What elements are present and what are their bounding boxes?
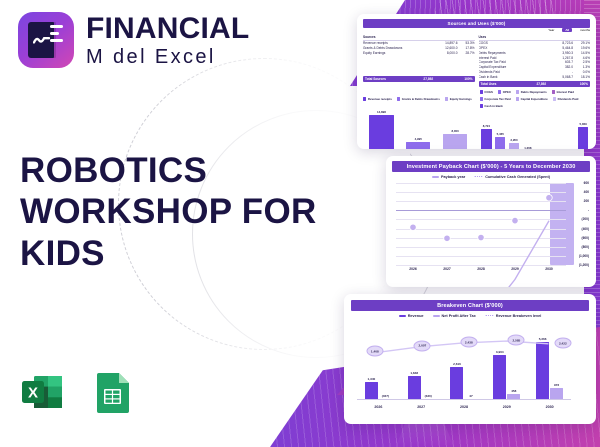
total-value: 27,892	[524, 82, 546, 86]
x-tick: 2029	[498, 265, 532, 275]
bar-value: 47	[469, 394, 472, 398]
bar-value: 8,724	[483, 124, 490, 128]
svg-text:X: X	[28, 385, 38, 402]
breakeven-level-label: 1,408	[366, 346, 383, 357]
breakeven-chart-title: Breakeven Chart ($'000)	[351, 300, 589, 311]
total-pct: 100%	[574, 82, 588, 86]
y-tick: (400)	[582, 227, 589, 231]
y-tick: (1,200)	[579, 263, 589, 267]
y-tick: (1,000)	[579, 254, 589, 258]
bar-value: 458	[511, 389, 516, 393]
bar-item: 3,950	[509, 138, 519, 149]
row-label: Dividends Paid	[479, 70, 549, 74]
brand-subtitle: M del Excel	[86, 47, 249, 67]
breakeven-plot-area: 1,340 (467) 1,848 (330)	[351, 322, 589, 414]
row-label: Debts Repayments	[479, 51, 549, 55]
x-tick: 2029	[485, 401, 528, 414]
legend-item: Debts Repayments	[516, 90, 547, 94]
total-pct: 100%	[459, 77, 473, 81]
row-value: 382.0	[551, 65, 573, 69]
bar-value: 604	[539, 148, 544, 149]
breakeven-level-line	[357, 326, 571, 386]
legend-item: COGS	[480, 90, 493, 94]
legend-label: OPEX	[503, 90, 511, 94]
row-pct: 29.1%	[576, 41, 590, 45]
row-pct: 17.8%	[461, 46, 475, 50]
bar-item: 14,898	[369, 110, 393, 149]
legend-item: OPEX	[498, 90, 511, 94]
breakeven-level-label: 2,585	[508, 335, 525, 346]
x-tick: 2028	[464, 265, 498, 275]
row-value: -	[551, 70, 573, 74]
legend-item: Revenue	[399, 314, 424, 318]
row-label: Revenue receipts	[363, 41, 433, 45]
legend-label: Interest Paid	[557, 90, 574, 94]
legend-label: Capital Expenditure	[521, 97, 548, 101]
panel-breakeven-chart[interactable]: Breakeven Chart ($'000) Revenue Net Prof…	[344, 294, 596, 424]
row-value: 1,267.8	[551, 56, 573, 60]
bar-value: 8,000	[451, 129, 458, 133]
panel-sources-and-uses[interactable]: Sources and Uses ($'000) Year All months…	[357, 14, 596, 149]
payback-y-axis: 600 400 200 - (200) (400) (600) (800) (1…	[566, 183, 590, 265]
x-tick: 2028	[443, 401, 486, 414]
document-lines-icon	[50, 25, 63, 42]
total-label: Total Uses	[481, 82, 497, 86]
x-tick: 2026	[357, 401, 400, 414]
legend-label: Cash in Bank	[484, 104, 502, 108]
table-row: Revenue receipts 14,897.6 53.3%	[363, 41, 475, 46]
bar-item: 8,000	[443, 129, 467, 149]
legend-label: Debts Repayments	[521, 90, 547, 94]
legend-item: Capital Expenditure	[516, 97, 548, 101]
breakeven-baseline	[357, 399, 571, 400]
payback-data-points	[396, 183, 566, 249]
brand-logo: FINANCIAL M del Excel	[18, 12, 249, 68]
bar-value: 4,995	[415, 137, 422, 141]
payback-plot-area: 600 400 200 - (200) (400) (600) (800) (1…	[392, 183, 590, 275]
total-value: 27,892	[411, 77, 433, 81]
row-pct: 28.7%	[461, 51, 475, 55]
legend-label: Revenue	[408, 314, 424, 318]
legend-label: Cumulative Cash Generated (Spent)	[485, 175, 550, 179]
row-label: OPEX	[479, 46, 549, 50]
legend-item: Grants & Debts Drawdowns	[397, 90, 440, 108]
period-value[interactable]: All	[562, 28, 572, 32]
row-pct: 18.1%	[576, 75, 590, 79]
bar-item: 5,465	[495, 132, 505, 149]
bar-value: 5,465	[497, 132, 504, 136]
table-row: Equity Earnings 8,000.0 28.7%	[363, 50, 475, 55]
legend-label: Equity Earnings	[450, 97, 472, 101]
row-pct: 0.0%	[576, 70, 590, 74]
sources-chart-legend: Revenue receipts Grants & Debts Drawdown…	[363, 90, 474, 108]
row-pct: 4.6%	[576, 56, 590, 60]
row-value: 5,464.8	[551, 46, 573, 50]
row-label: COGS	[479, 41, 549, 45]
payback-x-axis: 2026 2027 2028 2029 2030	[396, 265, 566, 275]
uses-bar-chart: 8,724 5,465 3,950 1,268 604 382	[480, 110, 591, 149]
uses-column: Uses COGS 8,723.6 29.1% OPEX 5,464.8 19.…	[479, 35, 591, 87]
sources-column: Sources Revenue receipts 14,897.6 53.3% …	[363, 35, 475, 87]
legend-label: Dividends Paid	[558, 97, 579, 101]
app-icons-row: X	[18, 368, 136, 416]
legend-item: Cumulative Cash Generated (Spent)	[474, 175, 550, 179]
y-tick: 200	[584, 199, 589, 203]
row-label: Corporate Tax Paid	[479, 60, 549, 64]
bar-value: 5,069	[579, 122, 586, 126]
row-value: 603.7	[551, 60, 573, 64]
row-label: Capital Expenditure	[479, 65, 549, 69]
bar-item: 1,268	[523, 146, 533, 149]
bar-value: 1,268	[524, 146, 531, 149]
legend-item: Net Profit After Tax	[433, 314, 476, 318]
legend-item: Revenue receipts	[363, 90, 392, 108]
row-pct: 1.3%	[576, 65, 590, 69]
sources-uses-table: Sources Revenue receipts 14,897.6 53.3% …	[363, 35, 590, 87]
x-tick: 2030	[528, 401, 571, 414]
breakeven-x-axis: 2026 2027 2028 2029 2030	[357, 401, 571, 414]
row-pct: 2.5%	[576, 60, 590, 64]
y-tick: (600)	[582, 236, 589, 240]
legend-label: COGS	[484, 90, 493, 94]
bar-item: 5,069	[578, 122, 588, 149]
breakeven-chart-legend: Revenue Net Profit After Tax Revenue Bre…	[351, 314, 589, 318]
legend-item: Corporate Tax Paid	[480, 97, 511, 101]
x-tick: 2027	[430, 265, 464, 275]
legend-item: Payback year	[432, 175, 465, 179]
x-tick: 2030	[532, 265, 566, 275]
uses-total-row: Total Uses 27,892 100%	[479, 81, 591, 87]
payback-chart-title: Investment Payback Chart ($'000) - 5 Yea…	[392, 161, 590, 172]
table-row: Grants & Debts Drawdowns 12,600.0 17.8%	[363, 45, 475, 50]
google-sheets-icon[interactable]	[88, 368, 136, 416]
y-tick: 600	[584, 181, 589, 185]
row-value: 8,000.0	[436, 51, 458, 55]
legend-item: Equity Earnings	[445, 90, 472, 108]
microsoft-excel-icon[interactable]: X	[18, 368, 66, 416]
bar-value: 14,898	[377, 110, 386, 114]
row-value: 3,950.3	[551, 51, 573, 55]
breakeven-level-label: 2,007	[414, 340, 431, 351]
y-tick: (200)	[582, 217, 589, 221]
bar-value: (330)	[425, 394, 432, 398]
y-tick: -	[588, 208, 589, 212]
brand-title: FINANCIAL	[86, 14, 249, 44]
sources-bar-chart: 14,898 4,995 8,000	[363, 110, 474, 149]
total-label: Total Sources	[365, 77, 386, 81]
y-tick: 400	[584, 190, 589, 194]
bar-item: 604	[536, 148, 546, 149]
x-tick: 2026	[396, 265, 430, 275]
legend-item: Dividends Paid	[553, 97, 579, 101]
legend-item: Cash in Bank	[480, 104, 503, 108]
uses-chart-legend: COGS OPEX Debts Repayments Interest Paid…	[480, 90, 591, 108]
page-title: ROBOTICS WORKSHOP FOR KIDS	[20, 150, 350, 274]
bar-value: 3,950	[510, 138, 517, 142]
payback-chart-legend: Payback year Cumulative Cash Generated (…	[392, 175, 590, 179]
financial-model-excel-logo-icon	[18, 12, 74, 68]
row-value: 14,897.6	[436, 41, 458, 45]
row-value: 12,600.0	[436, 46, 458, 50]
table-row: Cash in Bank 5,068.7 18.1%	[479, 75, 591, 80]
legend-item: Revenue Breakeven level	[485, 314, 542, 318]
period-unit: months	[580, 28, 590, 32]
x-tick: 2027	[400, 401, 443, 414]
wave-line-icon	[33, 36, 50, 45]
y-tick: (800)	[582, 245, 589, 249]
bar-item: 8,724	[481, 124, 491, 149]
period-label: Year	[548, 28, 554, 32]
row-label: Equity Earnings	[363, 51, 433, 55]
row-pct: 53.3%	[461, 41, 475, 45]
row-pct: 14.5%	[576, 51, 590, 55]
row-value: 5,068.7	[551, 75, 573, 79]
sources-uses-title: Sources and Uses ($'000)	[363, 19, 590, 28]
legend-label: Corporate Tax Paid	[484, 97, 510, 101]
legend-label: Payback year	[441, 175, 465, 179]
row-label: Cash in Bank	[479, 75, 549, 79]
legend-item: Interest Paid	[552, 90, 574, 94]
row-label: Interest Paid	[479, 56, 549, 60]
row-label: Grants & Debts Drawdowns	[363, 46, 433, 50]
row-pct: 19.6%	[576, 46, 590, 50]
sources-uses-period-toggle[interactable]: Year All months	[363, 28, 590, 32]
sources-total-row: Total Sources 27,892 100%	[363, 76, 475, 82]
legend-label: Revenue receipts	[368, 97, 392, 101]
panel-investment-payback[interactable]: Investment Payback Chart ($'000) - 5 Yea…	[386, 156, 596, 287]
bar-value: (467)	[382, 394, 389, 398]
breakeven-level-label: 2,438	[460, 337, 477, 348]
legend-label: Revenue Breakeven level	[496, 314, 542, 318]
row-value: 8,723.6	[551, 41, 573, 45]
legend-label: Grants & Debts Drawdowns	[402, 97, 440, 101]
legend-label: Net Profit After Tax	[442, 314, 476, 318]
bar-item: 4,995	[406, 137, 430, 149]
npat-bar: 458	[507, 389, 520, 400]
breakeven-level-label: 2,422	[554, 338, 571, 349]
